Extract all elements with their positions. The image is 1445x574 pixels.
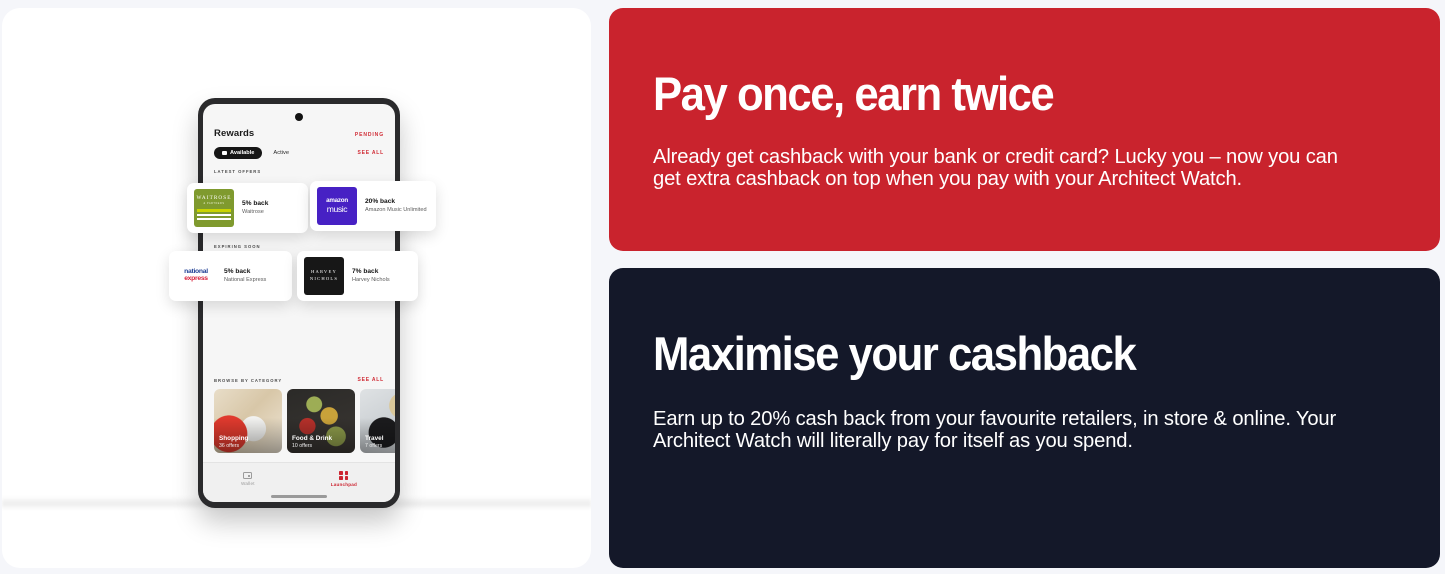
- page-title: Rewards: [214, 128, 254, 139]
- harvey-nichols-logo: HARVEY NICHOLS: [304, 257, 344, 295]
- category-offer-count: 36 offers: [219, 443, 248, 449]
- card-body: Earn up to 20% cash back from your favou…: [653, 408, 1354, 451]
- section-latest-offers: LATEST OFFERS: [214, 169, 384, 174]
- harvey-nichols-logo-line1: HARVEY: [311, 269, 337, 276]
- category-strip[interactable]: Shopping 36 offers Food & Drink 10 offer…: [214, 389, 384, 453]
- phone-showcase-panel: Rewards PENDING Available Active SEE ALL: [2, 8, 591, 568]
- card-headline: Maximise your cashback: [653, 330, 1344, 377]
- national-express-logo: national express: [176, 257, 216, 295]
- nav-item-launchpad[interactable]: Launchpad: [331, 471, 357, 487]
- tab-available-label: Available: [230, 150, 254, 156]
- category-name: Food & Drink: [292, 435, 332, 443]
- waitrose-logo-sub: & PARTNERS: [203, 202, 224, 205]
- rewards-header: Rewards PENDING: [214, 128, 384, 139]
- offer-brand: Amazon Music Unlimited: [365, 207, 427, 214]
- category-card-shopping[interactable]: Shopping 36 offers: [214, 389, 282, 453]
- browse-header: BROWSE BY CATEGORY SEE ALL: [214, 377, 384, 383]
- offer-brand: Harvey Nichols: [352, 277, 390, 284]
- card-pay-once-earn-twice: Pay once, earn twice Already get cashbac…: [609, 8, 1440, 251]
- category-name: Travel: [365, 435, 383, 443]
- launchpad-icon: [339, 471, 348, 480]
- waitrose-logo-bars: [197, 209, 231, 222]
- phone-mockup: Rewards PENDING Available Active SEE ALL: [198, 98, 400, 508]
- page-root: Rewards PENDING Available Active SEE ALL: [0, 0, 1445, 574]
- category-card-food-drink[interactable]: Food & Drink 10 offers: [287, 389, 355, 453]
- offer-brand: National Express: [224, 277, 266, 284]
- amazon-music-logo: amazon music: [317, 187, 357, 225]
- nav-item-wallet-label: Wallet: [241, 481, 255, 486]
- nav-item-launchpad-label: Launchpad: [331, 482, 357, 487]
- offer-card-amazon-music[interactable]: amazon music 20% back Amazon Music Unlim…: [310, 181, 436, 231]
- home-indicator: [271, 495, 327, 498]
- wallet-icon: [243, 472, 252, 479]
- bottom-nav[interactable]: Wallet Launchpad: [203, 462, 395, 502]
- amazon-music-logo-sub: music: [327, 205, 347, 214]
- card-maximise-your-cashback: Maximise your cashback Earn up to 20% ca…: [609, 268, 1440, 568]
- phone-screen: Rewards PENDING Available Active SEE ALL: [203, 104, 395, 502]
- offer-brand: Waitrose: [242, 209, 268, 216]
- see-all-offers-link[interactable]: SEE ALL: [357, 150, 384, 156]
- wallet-card-icon: [222, 151, 227, 155]
- section-expiring-soon: EXPIRING SOON: [214, 244, 384, 249]
- category-name: Shopping: [219, 435, 248, 443]
- offer-percent: 5% back: [224, 268, 266, 276]
- see-all-categories-link[interactable]: SEE ALL: [357, 377, 384, 383]
- offer-percent: 5% back: [242, 200, 268, 208]
- category-card-travel[interactable]: Travel 7 offers: [360, 389, 395, 453]
- card-body: Already get cashback with your bank or c…: [653, 146, 1354, 189]
- offer-card-waitrose[interactable]: WAITROSE & PARTNERS 5% back Waitrose: [187, 183, 308, 233]
- browse-by-category-label: BROWSE BY CATEGORY: [214, 378, 282, 383]
- offer-card-national-express[interactable]: national express 5% back National Expres…: [169, 251, 292, 301]
- nav-item-wallet[interactable]: Wallet: [241, 472, 255, 486]
- camera-dot-icon: [295, 113, 303, 121]
- offer-percent: 7% back: [352, 268, 390, 276]
- tab-available[interactable]: Available: [214, 147, 262, 159]
- category-offer-count: 10 offers: [292, 443, 332, 449]
- offer-percent: 20% back: [365, 198, 427, 206]
- harvey-nichols-logo-line2: NICHOLS: [310, 276, 338, 283]
- card-headline: Pay once, earn twice: [653, 70, 1344, 117]
- category-offer-count: 7 offers: [365, 443, 383, 449]
- rewards-tabs: Available Active SEE ALL: [214, 147, 384, 159]
- tab-active[interactable]: Active: [273, 150, 289, 156]
- national-express-logo-line2: express: [184, 276, 208, 283]
- waitrose-logo-wordmark: WAITROSE: [196, 195, 231, 201]
- offer-card-harvey-nichols[interactable]: HARVEY NICHOLS 7% back Harvey Nichols: [297, 251, 418, 301]
- status-badge: PENDING: [355, 132, 384, 138]
- waitrose-logo: WAITROSE & PARTNERS: [194, 189, 234, 227]
